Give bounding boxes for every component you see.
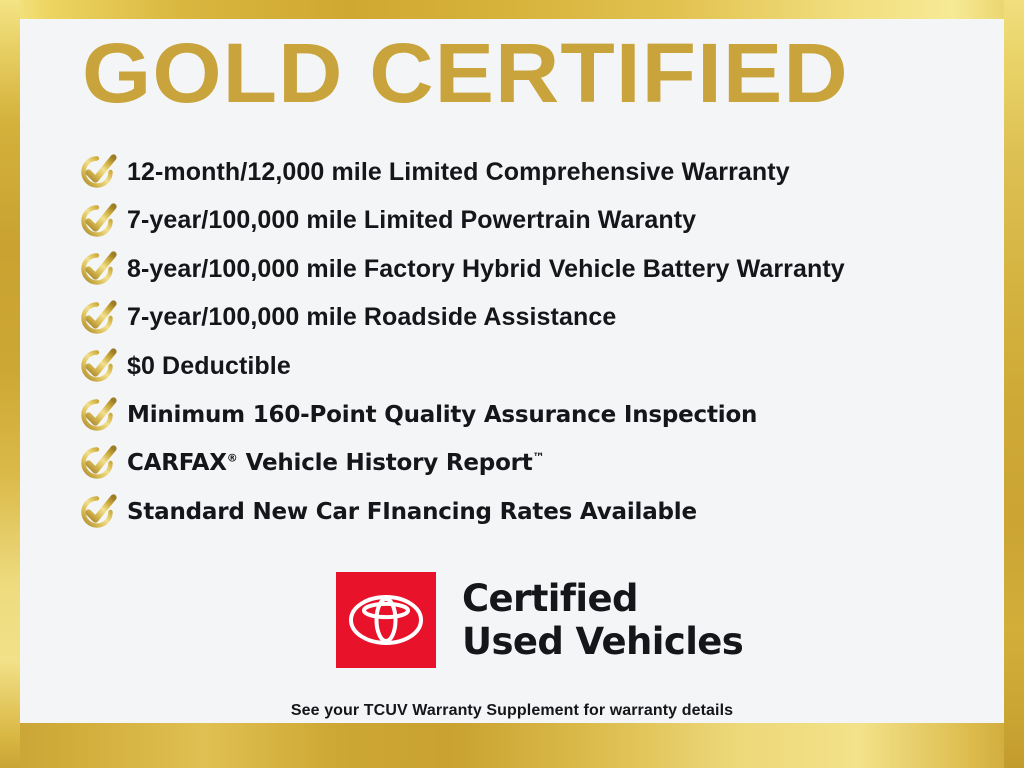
feature-item: $0 Deductible <box>75 342 955 391</box>
feature-label: $0 Deductible <box>127 352 291 381</box>
feature-label-carfax: CARFAX® Vehicle History Report™ <box>127 450 545 476</box>
gold-check-circle-icon <box>75 248 127 290</box>
gold-check-circle-icon <box>75 151 127 193</box>
toyota-certified-used-vehicles-logo: Certified Used Vehicles <box>336 572 743 668</box>
gold-border-left <box>0 0 20 768</box>
toyota-badge <box>336 572 436 668</box>
carfax-middle: Vehicle History Report <box>238 450 533 476</box>
gold-check-circle-icon <box>75 345 127 387</box>
feature-label: Minimum 160-Point Quality Assurance Insp… <box>127 402 757 428</box>
feature-label: 8-year/100,000 mile Factory Hybrid Vehic… <box>127 255 845 284</box>
feature-label: 7-year/100,000 mile Roadside Assistance <box>127 303 616 332</box>
gold-certified-poster: GOLD CERTIFIED <box>0 0 1024 768</box>
feature-item: Minimum 160-Point Quality Assurance Insp… <box>75 391 955 440</box>
feature-item: 7-year/100,000 mile Limited Powertrain W… <box>75 197 955 246</box>
feature-item: Standard New Car FInancing Rates Availab… <box>75 488 955 537</box>
gold-check-circle-icon <box>75 200 127 242</box>
carfax-brand: CARFAX <box>127 450 227 476</box>
feature-item: 8-year/100,000 mile Factory Hybrid Vehic… <box>75 245 955 294</box>
gold-border-bottom <box>0 723 1024 768</box>
page-title: GOLD CERTIFIED <box>82 28 849 118</box>
feature-label: 7-year/100,000 mile Limited Powertrain W… <box>127 206 696 235</box>
lockup-line-used-vehicles: Used Vehicles <box>462 620 743 663</box>
registered-mark: ® <box>227 452 238 465</box>
footer-disclaimer: See your TCUV Warranty Supplement for wa… <box>0 702 1024 720</box>
gold-check-circle-icon <box>75 491 127 533</box>
lockup-line-certified: Certified <box>462 577 743 620</box>
trademark-mark: ™ <box>533 451 545 465</box>
feature-label: 12-month/12,000 mile Limited Comprehensi… <box>127 158 790 187</box>
feature-item: 12-month/12,000 mile Limited Comprehensi… <box>75 148 955 197</box>
feature-label: Standard New Car FInancing Rates Availab… <box>127 499 697 525</box>
gold-border-right <box>1004 0 1024 768</box>
toyota-lockup-text: Certified Used Vehicles <box>462 577 743 663</box>
feature-list: 12-month/12,000 mile Limited Comprehensi… <box>75 148 955 536</box>
gold-check-circle-icon <box>75 442 127 484</box>
toyota-emblem-icon <box>348 593 424 647</box>
gold-border-top <box>0 0 1024 19</box>
gold-check-circle-icon <box>75 297 127 339</box>
feature-item: 7-year/100,000 mile Roadside Assistance <box>75 294 955 343</box>
feature-item-carfax: CARFAX® Vehicle History Report™ <box>75 439 955 488</box>
gold-check-circle-icon <box>75 394 127 436</box>
